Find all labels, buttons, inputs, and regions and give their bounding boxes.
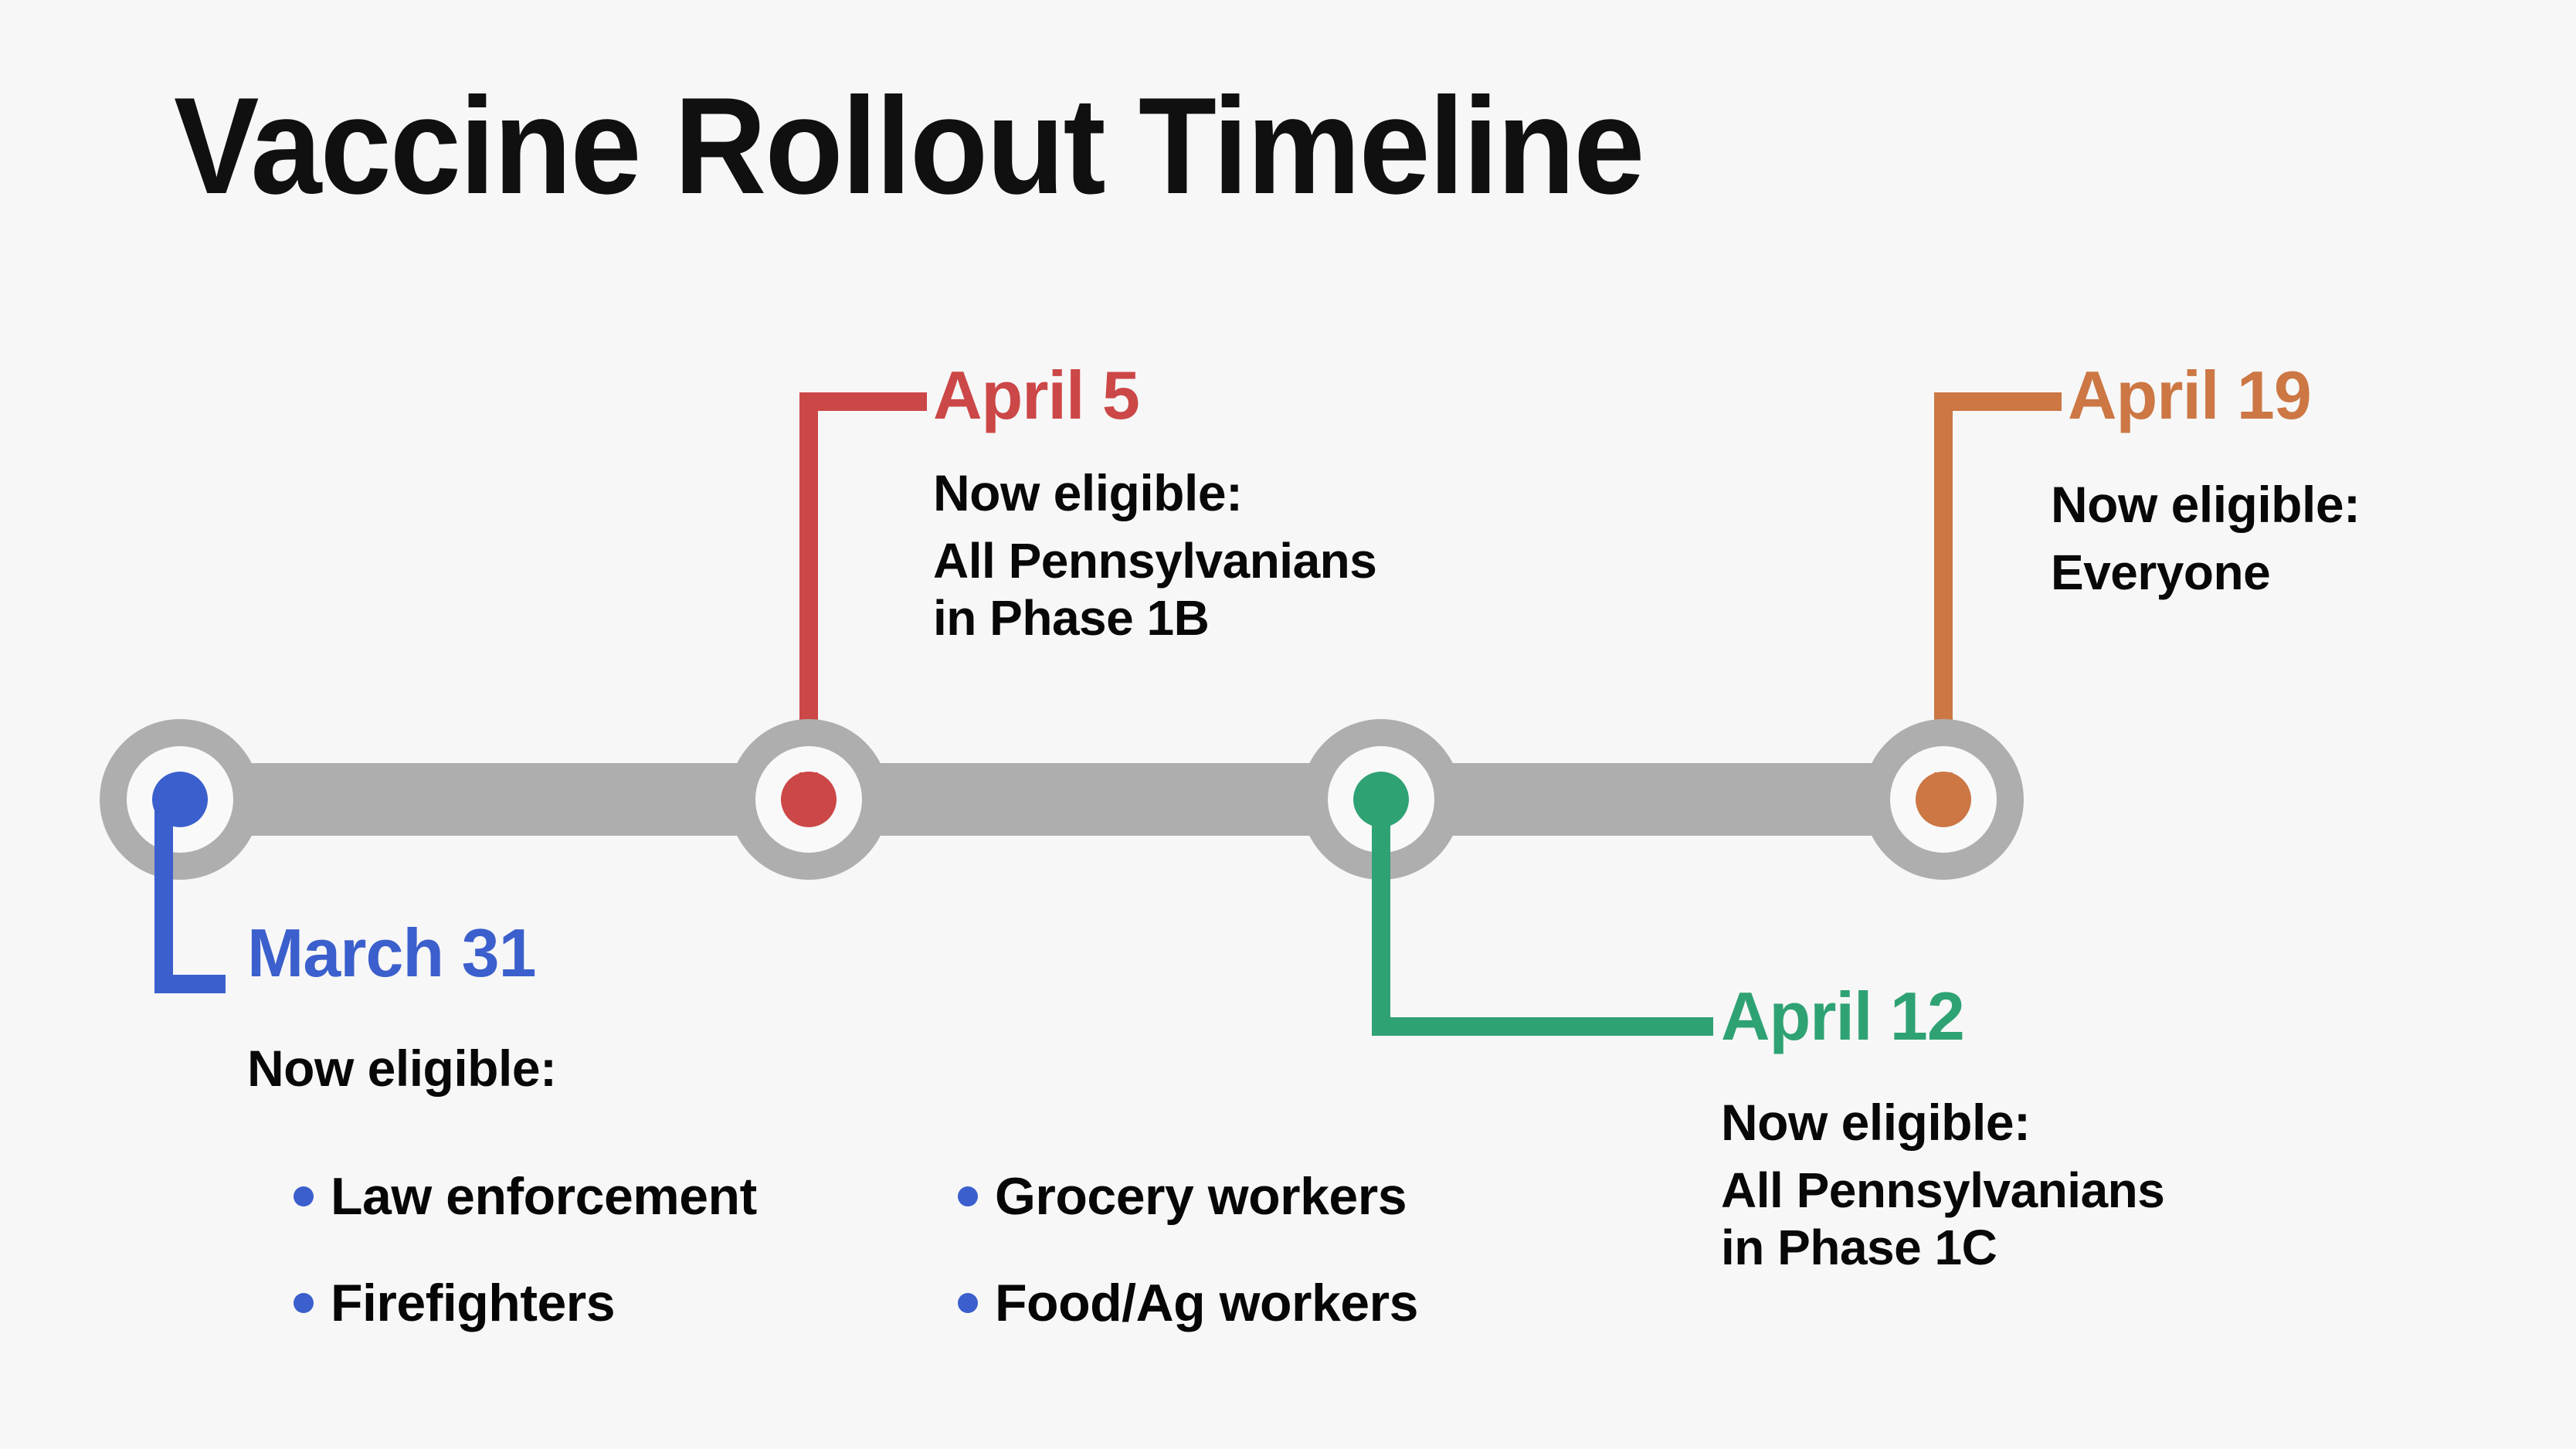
bullet-label: Grocery workers: [995, 1166, 1407, 1227]
eligibility-block-april-19: Now eligible: Everyone: [2051, 475, 2360, 601]
list-item: Law enforcement: [294, 1166, 958, 1227]
bullet-label: Food/Ag workers: [995, 1273, 1418, 1333]
bullet-dot-icon: [958, 1293, 978, 1313]
bullet-dot-icon: [294, 1293, 314, 1313]
infographic-canvas: Vaccine Rollout Timeline: [0, 0, 2576, 1449]
eligibility-line: in Phase 1B: [933, 589, 1376, 646]
timeline-node-march-31[interactable]: [100, 719, 260, 880]
bullet-label: Firefighters: [331, 1273, 615, 1333]
list-item: Grocery workers: [958, 1166, 1418, 1227]
bullet-label: Law enforcement: [331, 1166, 757, 1227]
date-label-april-19: April 19: [2068, 361, 2311, 429]
list-item: Firefighters: [294, 1273, 958, 1333]
eligibility-line: Everyone: [2051, 544, 2360, 601]
eligibility-line: All Pennsylvanians: [933, 532, 1376, 589]
eligibility-block-march-31: Now eligible:: [247, 1039, 557, 1108]
eligibility-heading-april-12: Now eligible:: [1721, 1093, 2164, 1152]
bullet-dot-icon: [958, 1186, 978, 1206]
list-item: Food/Ag workers: [958, 1273, 1418, 1333]
eligibility-line: in Phase 1C: [1721, 1219, 2164, 1276]
connector-april-19-stub: [1934, 392, 2062, 411]
timeline-track: [180, 763, 1943, 836]
date-label-april-12: April 12: [1721, 982, 1964, 1050]
eligibility-block-april-12: Now eligible: All Pennsylvanians in Phas…: [1721, 1093, 2164, 1276]
eligibility-block-april-5: Now eligible: All Pennsylvanians in Phas…: [933, 463, 1376, 646]
eligibility-heading-march-31: Now eligible:: [247, 1039, 557, 1098]
connector-april-5-stub: [799, 392, 927, 411]
date-label-march-31: March 31: [247, 919, 536, 987]
eligibility-bullets-march-31: Law enforcement Grocery workers Firefigh…: [294, 1143, 1418, 1356]
bullet-dot-icon: [294, 1186, 314, 1206]
date-label-april-5: April 5: [933, 361, 1139, 429]
eligibility-heading-april-5: Now eligible:: [933, 463, 1376, 523]
eligibility-line: All Pennsylvanians: [1721, 1162, 2164, 1219]
connector-april-12-stub: [1372, 1017, 1713, 1036]
eligibility-heading-april-19: Now eligible:: [2051, 475, 2360, 534]
